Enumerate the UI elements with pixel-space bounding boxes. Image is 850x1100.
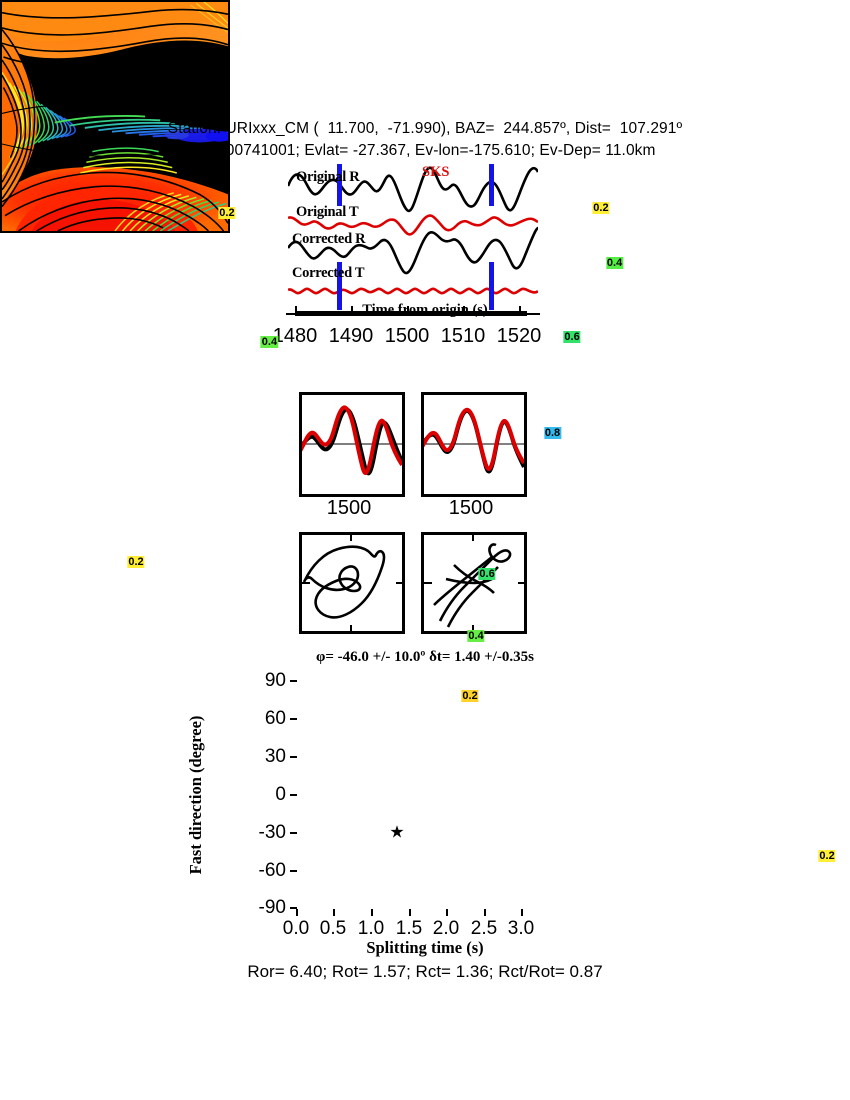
time-tick-label: 1480: [273, 325, 318, 348]
trace-label-original-t: Original T: [296, 204, 358, 221]
time-axis-title: Time from origin (s): [0, 302, 850, 319]
x-tick-label: 1.0: [358, 918, 384, 940]
y-tick-label: 60: [240, 708, 286, 730]
trace-label-original-r: Original R: [296, 169, 359, 186]
energy-map-contour-plot: ★ 0.2 0.2 0.4 0.6 0.4 0.8 0.2 0.6 0.4 0.…: [0, 0, 230, 233]
figure-header: Station: URIxxx_CM ( 11.700, -71.990), B…: [0, 118, 850, 162]
x-tick-label: 3.0: [508, 918, 534, 940]
y-tick-label: -90: [236, 897, 286, 919]
trace-label-corrected-t: Corrected T: [292, 265, 364, 282]
x-tick-label: 0.0: [283, 918, 309, 940]
time-tick-label: 1500: [385, 325, 430, 348]
station-info-line: Station: URIxxx_CM ( 11.700, -71.990), B…: [0, 118, 850, 140]
time-tick-label: 1520: [497, 325, 542, 348]
x-tick-label: 1.5: [396, 918, 422, 940]
contour-label: 0.2: [218, 207, 230, 219]
x-tick-label: 2.0: [433, 918, 459, 940]
splitting-result-text: φ= -46.0 +/- 10.0º δt= 1.40 +/-0.35s: [0, 649, 850, 666]
trace-corrected-t: [288, 289, 538, 293]
time-tick-label: 1510: [441, 325, 486, 348]
window-marker-end-top: [489, 164, 494, 206]
particle-motion-box-left: [299, 532, 405, 634]
window-marker-end-bottom: [489, 262, 494, 310]
y-tick-label: -30: [236, 822, 286, 844]
y-tick-label: 0: [240, 784, 286, 806]
y-tick-label: 90: [240, 670, 286, 692]
seismogram-panel: Original R Original T Corrected R Correc…: [288, 166, 538, 306]
sks-phase-label: SKS: [422, 164, 449, 181]
y-tick-label: 30: [240, 746, 286, 768]
waveform-compare-box-right: [421, 392, 527, 497]
time-tick-label: 1490: [329, 325, 374, 348]
y-axis-title: Fast direction (degree): [186, 716, 206, 875]
x-axis-title: Splitting time (s): [0, 938, 850, 958]
compare-box-right-caption: 1500: [421, 497, 521, 520]
particle-motion-box-right: [421, 532, 527, 634]
trace-label-corrected-r: Corrected R: [292, 231, 365, 248]
x-tick-label: 2.5: [471, 918, 497, 940]
bottom-statistics-text: Ror= 6.40; Rot= 1.57; Rct= 1.36; Rct/Rot…: [0, 962, 850, 982]
compare-box-left-caption: 1500: [299, 497, 399, 520]
y-tick-label: -60: [236, 860, 286, 882]
compare-trace-red-right: [424, 410, 524, 469]
event-info-line: EQ200741001; Evlat= -27.367, Ev-lon=-175…: [0, 140, 850, 162]
particle-motion-path-uncorrected: [304, 547, 384, 618]
x-tick-label: 0.5: [320, 918, 346, 940]
time-axis-tick-labels: 1480 1490 1500 1510 1520: [258, 325, 568, 351]
waveform-compare-box-left: [299, 392, 405, 497]
